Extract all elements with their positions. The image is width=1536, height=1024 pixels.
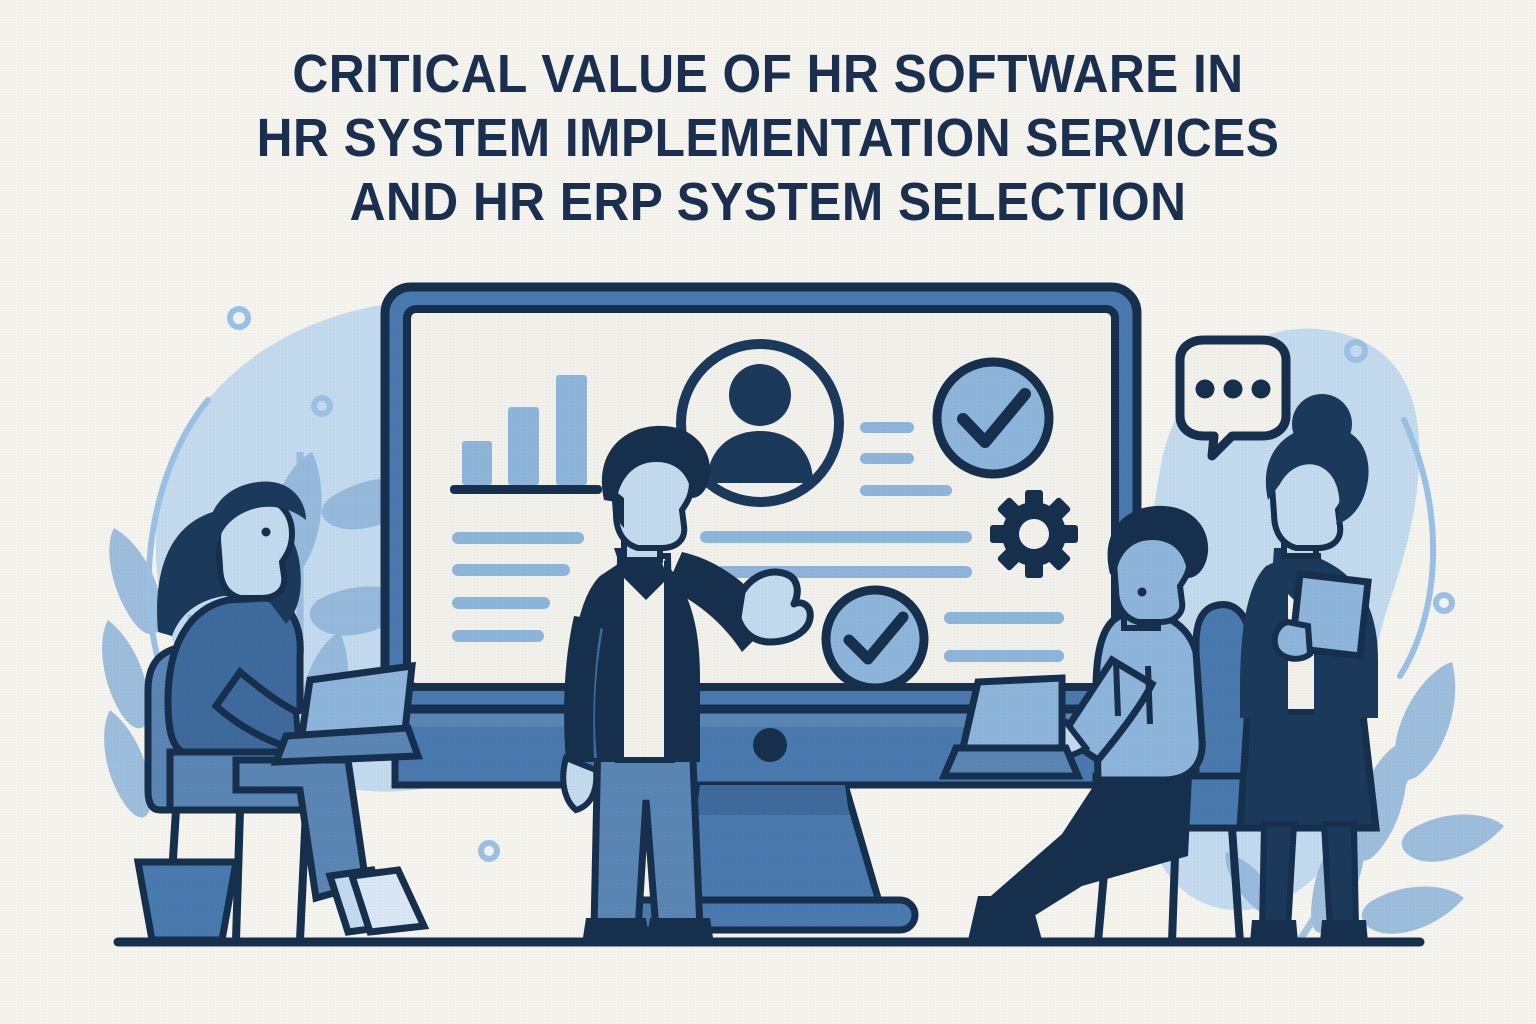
text-line (452, 564, 570, 576)
woman2-hair-bun (1292, 394, 1352, 454)
monitor-power-dot (753, 728, 787, 762)
illustration-poster: Critical Value of HR Software in HR Syst… (0, 0, 1536, 1024)
laptop-screen-right (962, 678, 1062, 752)
text-line (452, 532, 584, 544)
woman2-skirt (1240, 706, 1376, 828)
text-line (700, 531, 972, 543)
chart-bar-2 (508, 407, 539, 485)
text-line (860, 485, 952, 496)
text-line (452, 597, 550, 609)
bubble-dot-2 (1224, 380, 1243, 399)
text-line (860, 453, 914, 464)
settings-gear-icon (990, 490, 1078, 578)
laptop-base-right (944, 748, 1078, 776)
woman-eye (262, 528, 271, 537)
presenter-hand-left (563, 758, 596, 810)
text-line (944, 650, 1064, 662)
bubble-dot-1 (1196, 380, 1215, 399)
check-badge-top (937, 362, 1049, 474)
text-line (944, 612, 1064, 624)
chart-bar-3 (556, 375, 587, 485)
footrest-box (138, 862, 236, 940)
speech-bubble (1180, 340, 1286, 456)
bubble-dot-3 (1252, 380, 1271, 399)
laptop-base-left (276, 728, 418, 762)
woman2-hand (1275, 622, 1310, 659)
man-eye (1138, 588, 1147, 597)
man-shoe (968, 896, 1042, 940)
chart-bar-1 (462, 441, 492, 485)
text-line (452, 630, 544, 642)
check-badge-bottom (826, 590, 924, 688)
scene-illustration (0, 0, 1536, 1024)
text-line (860, 422, 914, 433)
chart-axis (450, 485, 602, 494)
